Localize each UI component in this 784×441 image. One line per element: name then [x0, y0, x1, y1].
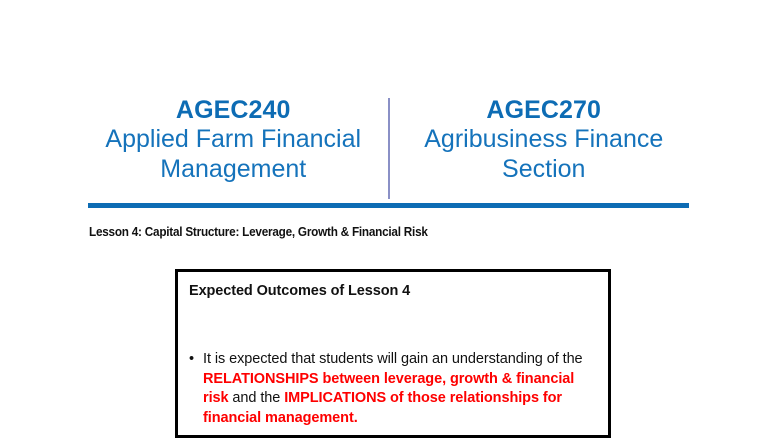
expected-outcomes-box: Expected Outcomes of Lesson 4 • It is ex…	[175, 269, 611, 438]
bullet-marker-icon: •	[186, 350, 203, 428]
expected-outcomes-title: Expected Outcomes of Lesson 4	[189, 283, 410, 299]
lesson-subtitle: Lesson 4: Capital Structure: Leverage, G…	[89, 225, 428, 239]
course-name-left-line-2: Management	[88, 155, 379, 184]
expected-outcomes-bullet-text: It is expected that students will gain a…	[203, 350, 600, 428]
expected-outcomes-body: • It is expected that students will gain…	[186, 350, 600, 428]
header-rule	[88, 203, 689, 208]
course-column-left: AGEC240 Applied Farm Financial Managemen…	[88, 96, 388, 184]
bullet-segment-plain-2: and the	[228, 390, 284, 406]
course-name-left-line-1: Applied Farm Financial	[88, 125, 379, 154]
course-header: AGEC240 Applied Farm Financial Managemen…	[88, 96, 689, 200]
bullet-segment-plain-1: It is expected that students will gain a…	[203, 351, 583, 367]
course-code-left: AGEC240	[88, 96, 379, 125]
course-column-right: AGEC270 Agribusiness Finance Section	[390, 96, 690, 184]
course-name-right-line-2: Section	[399, 155, 690, 184]
course-name-right-line-1: Agribusiness Finance	[399, 125, 690, 154]
course-code-right: AGEC270	[399, 96, 690, 125]
slide-canvas: AGEC240 Applied Farm Financial Managemen…	[0, 0, 784, 441]
